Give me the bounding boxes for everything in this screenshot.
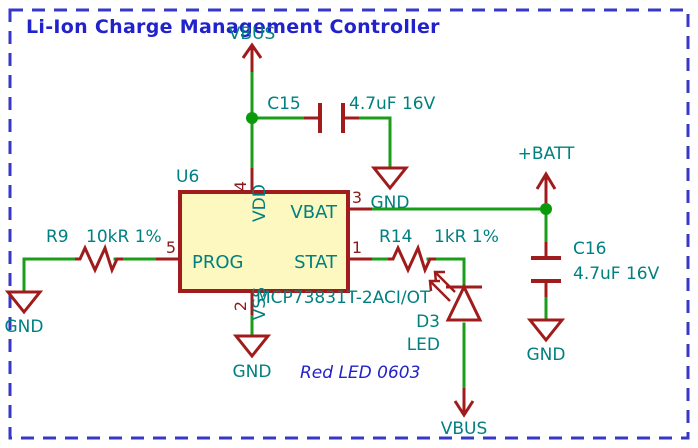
- u6-pin-number-4: 4: [231, 181, 250, 191]
- u6-value: MCP73831T-2ACI/OT: [256, 288, 431, 308]
- u6-pin-number-2: 2: [231, 301, 250, 311]
- u6-pin-number-1: 1: [352, 238, 362, 257]
- component-d3-reference: D3: [416, 312, 440, 332]
- u6-reference: U6: [176, 167, 199, 187]
- component-c15-reference: C15: [267, 94, 301, 114]
- component-d3-led[interactable]: D3 LED: [407, 272, 482, 355]
- component-r9[interactable]: R9 10kR 1%: [46, 227, 162, 270]
- power-port-vbus-top[interactable]: VBUS: [229, 24, 276, 72]
- power-port-batt-label: +BATT: [518, 144, 575, 164]
- u6-pin-name-vbat: VBAT: [290, 202, 338, 223]
- gnd-symbol-u6[interactable]: GND: [233, 336, 272, 382]
- power-port-batt[interactable]: +BATT: [518, 144, 575, 209]
- gnd-symbol-c16[interactable]: GND: [527, 320, 566, 365]
- component-c16-value: 4.7uF 16V: [573, 264, 660, 284]
- u6-pin-number-3: 3: [352, 188, 362, 207]
- u6-pin-name-prog: PROG: [192, 252, 243, 273]
- power-port-vbus-bottom-label: VBUS: [441, 419, 488, 439]
- note-led: Red LED 0603: [300, 363, 420, 383]
- schematic-canvas: Li-Ion Charge Management Controller: [0, 0, 698, 448]
- component-r14-value: 1kR 1%: [434, 227, 499, 247]
- u6-pin-name-vss: VSS: [250, 287, 270, 320]
- component-c15-value: 4.7uF 16V: [349, 94, 436, 114]
- gnd-symbol-c16-label: GND: [527, 345, 566, 365]
- gnd-symbol-r9-label: GND: [5, 317, 44, 337]
- component-r14-reference: R14: [379, 227, 412, 247]
- u6-pin-name-stat: STAT: [294, 252, 338, 273]
- component-d3-value: LED: [407, 335, 440, 355]
- schematic-sheet: Li-Ion Charge Management Controller: [0, 0, 698, 448]
- junction-dot-vbus: [246, 112, 258, 124]
- gnd-symbol-u6-label: GND: [233, 362, 272, 382]
- gnd-symbol-c15-label: GND: [371, 193, 410, 213]
- component-r9-value: 10kR 1%: [86, 227, 162, 247]
- junction-dot-batt: [540, 203, 552, 215]
- component-c16-reference: C16: [573, 239, 607, 259]
- gnd-symbol-c15[interactable]: GND: [371, 168, 410, 213]
- u6-pin-number-5: 5: [166, 238, 176, 257]
- u6-pin-name-vdd: VDD: [250, 184, 270, 222]
- power-port-vbus-top-label: VBUS: [229, 24, 276, 44]
- component-c16[interactable]: C16 4.7uF 16V: [531, 239, 660, 297]
- component-c15[interactable]: C15 4.7uF 16V: [267, 94, 435, 133]
- power-port-vbus-bottom[interactable]: VBUS: [441, 388, 488, 439]
- component-r14[interactable]: R14 1kR 1%: [379, 227, 499, 270]
- component-r9-reference: R9: [46, 227, 69, 247]
